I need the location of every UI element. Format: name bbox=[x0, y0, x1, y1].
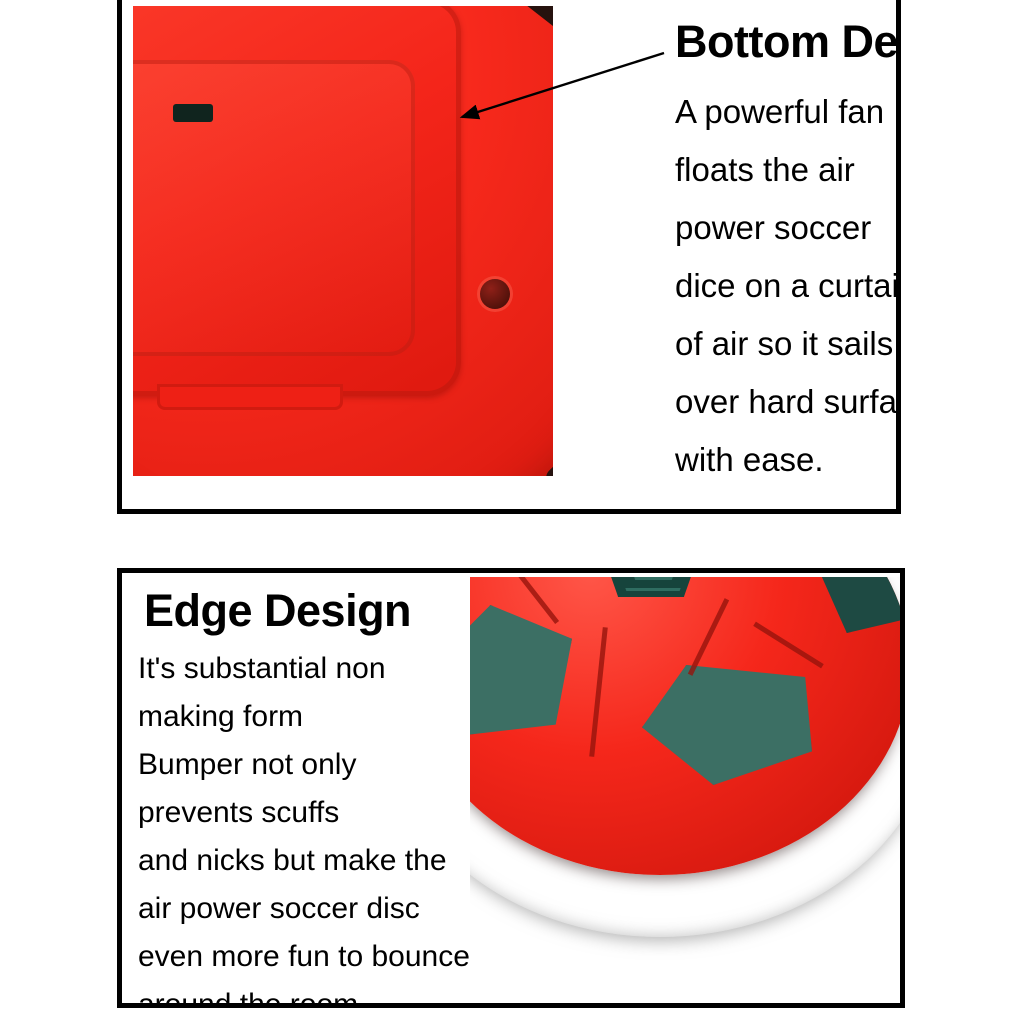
edge-design-body-text: It's substantial non making form Bumper … bbox=[138, 645, 528, 1008]
screw-hole-right bbox=[480, 279, 510, 309]
seam-4 bbox=[688, 598, 729, 676]
disc-battery-tab bbox=[157, 384, 343, 410]
edge-disc-photo bbox=[470, 577, 900, 997]
disc-center-plate bbox=[133, 6, 461, 396]
bottom-design-body-text: A powerful fan floats the air power socc… bbox=[675, 83, 901, 489]
panel-bottom-design: Bottom Design A powerful fan floats the … bbox=[117, 0, 901, 514]
seam-5 bbox=[589, 627, 608, 757]
bottom-design-heading: Bottom Design bbox=[675, 19, 901, 64]
edge-design-heading: Edge Design bbox=[144, 588, 411, 633]
disc-plate-slot bbox=[173, 104, 213, 122]
facet-dark-bottom-right bbox=[642, 665, 812, 785]
fan-grille-hub bbox=[598, 577, 704, 597]
bottom-design-leader-arrow bbox=[452, 47, 672, 127]
facet-dark-right bbox=[818, 577, 900, 633]
seam-6 bbox=[753, 622, 823, 669]
panel-edge-design: Edge Design It's substantial non making … bbox=[117, 568, 905, 1008]
